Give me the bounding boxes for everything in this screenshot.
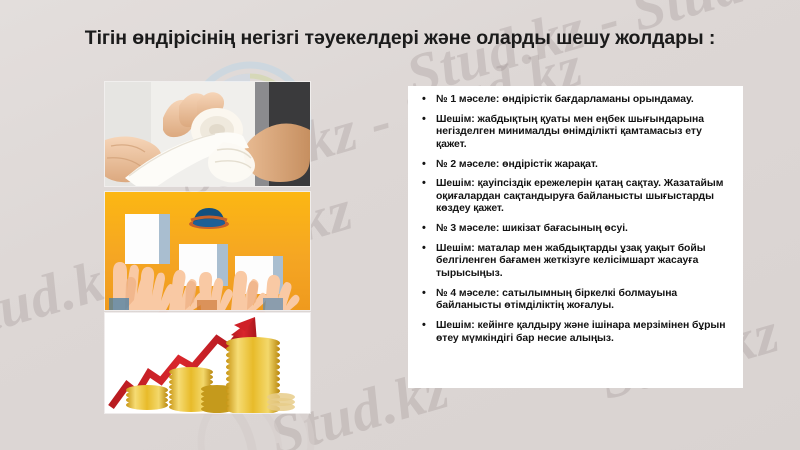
content-text-panel: № 1 мәселе: өндірістік бағдарламаны орын… [408, 86, 743, 388]
list-item: Шешім: маталар мен жабдықтарды ұзақ уақы… [418, 243, 731, 281]
page-title: Тігін өндірісінің негізгі тәуекелдері жә… [0, 27, 800, 50]
list-item: № 4 мәселе: сатылымның біркелкі болмауын… [418, 288, 731, 313]
auction-raised-hands-illustration [105, 192, 310, 310]
list-item: Шешім: жабдықтың қуаты мен еңбек шығында… [418, 114, 731, 152]
bullet-list: № 1 мәселе: өндірістік бағдарламаны орын… [418, 94, 731, 345]
first-aid-bandage-photo [105, 82, 310, 186]
list-item: Шешім: кейінге қалдыру және ішінара мерз… [418, 320, 731, 345]
list-item: № 1 мәселе: өндірістік бағдарламаны орын… [418, 94, 731, 107]
rising-coins-chart-photo [105, 313, 310, 413]
list-item: № 2 мәселе: өндірістік жарақат. [418, 159, 731, 172]
presentation-slide: Stud.kz - Stud.kz Stud.kz - Stud.kz Stud… [0, 0, 800, 450]
list-item: Шешім: қауіпсіздік ережелерін қатаң сақт… [418, 178, 731, 216]
list-item: № 3 мәселе: шикізат бағасының өсуі. [418, 223, 731, 236]
image-column [105, 82, 310, 413]
